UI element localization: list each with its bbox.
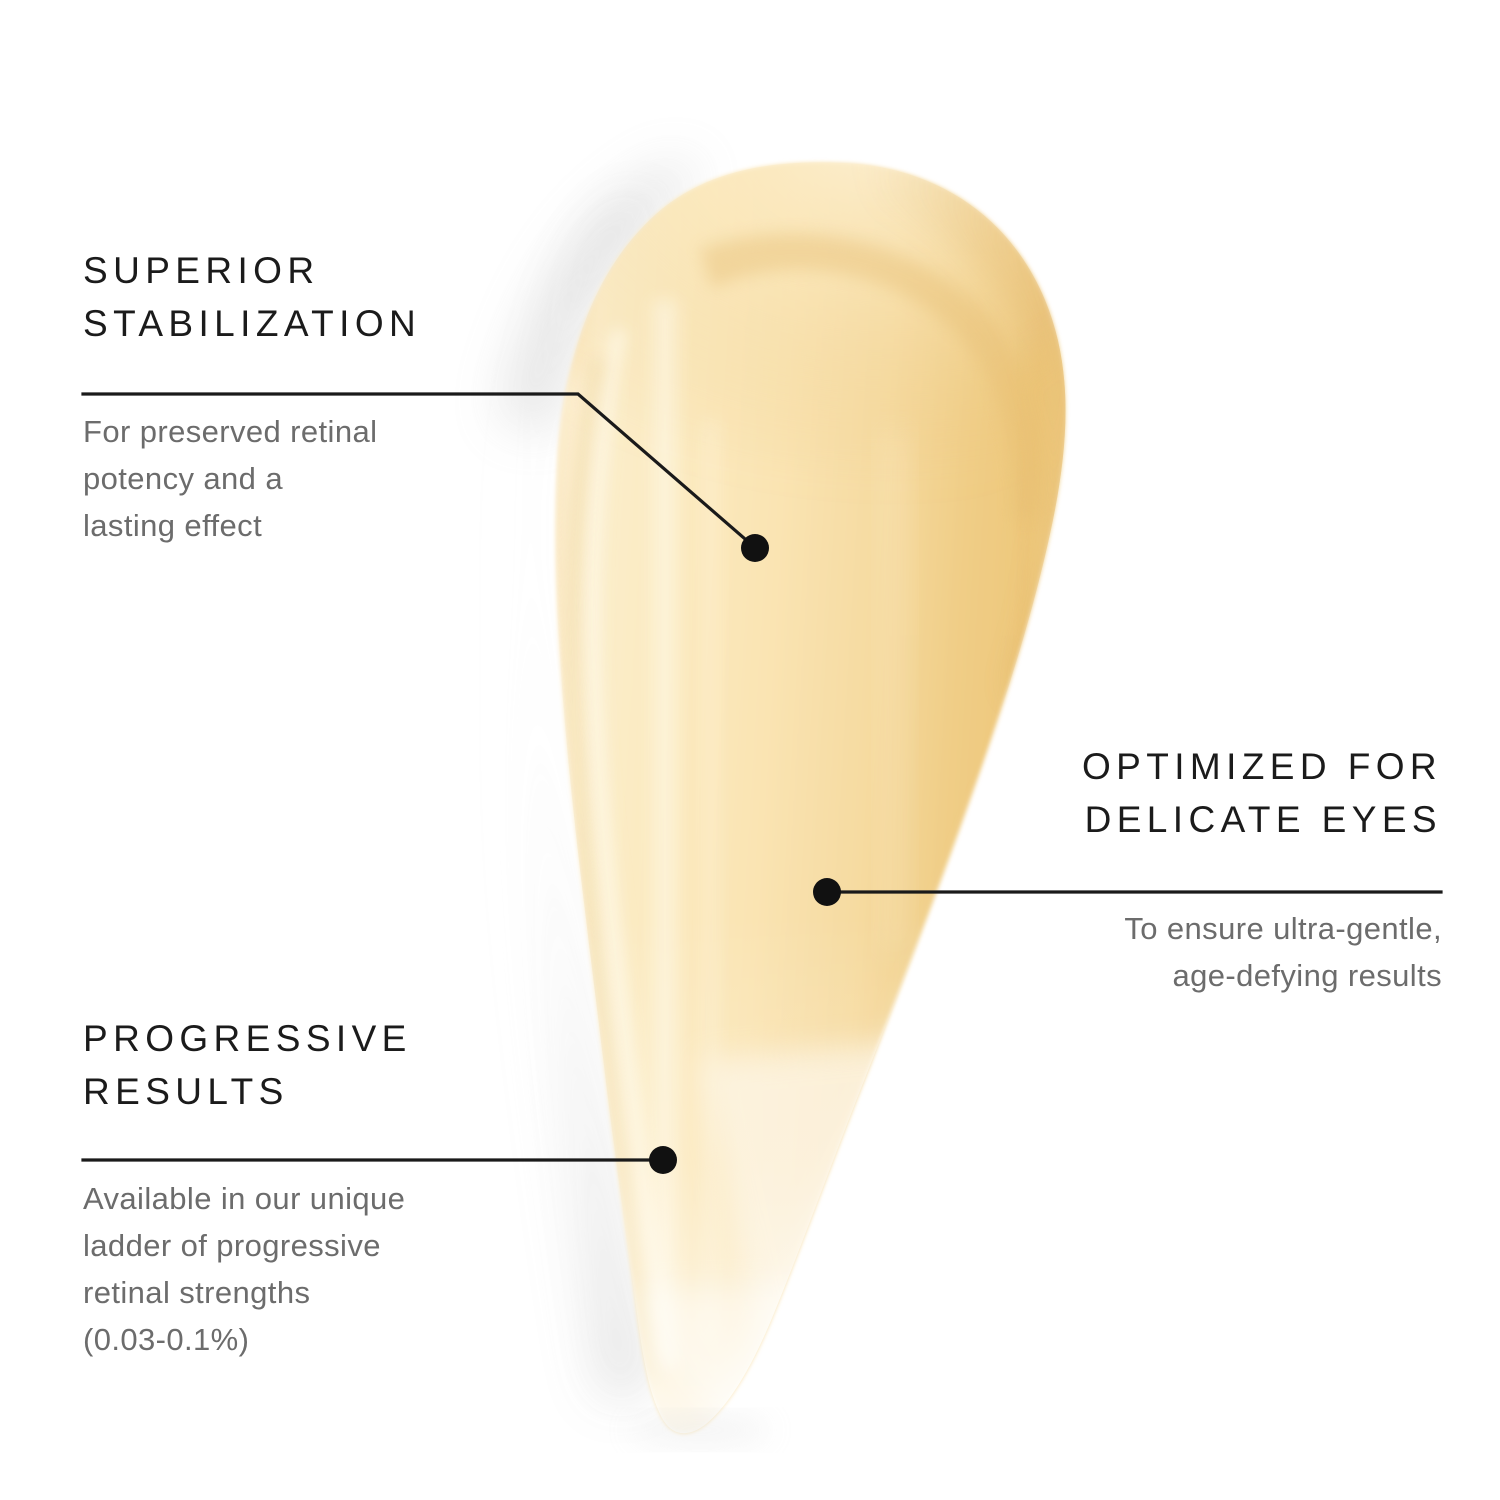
callout-progressive-results: PROGRESSIVE RESULTS Available in our uni… xyxy=(83,1012,563,1363)
infographic-canvas: SUPERIOR STABILIZATION For preserved ret… xyxy=(0,0,1500,1500)
swatch-tip-shadow xyxy=(630,1416,770,1444)
callout-body-superior-stabilization: For preserved retinal potency and a last… xyxy=(83,408,553,549)
callout-body-optimized-for-delicate-eyes: To ensure ultra-gentle, age-defying resu… xyxy=(920,905,1442,999)
callout-body-progressive-results: Available in our unique ladder of progre… xyxy=(83,1175,563,1363)
callout-title-progressive-results: PROGRESSIVE RESULTS xyxy=(83,1012,563,1119)
callout-title-optimized-for-delicate-eyes: OPTIMIZED FOR DELICATE EYES xyxy=(920,740,1442,847)
callout-superior-stabilization: SUPERIOR STABILIZATION For preserved ret… xyxy=(83,244,553,549)
callout-optimized-for-delicate-eyes: OPTIMIZED FOR DELICATE EYES To ensure ul… xyxy=(920,740,1442,999)
callout-title-superior-stabilization: SUPERIOR STABILIZATION xyxy=(83,244,553,351)
